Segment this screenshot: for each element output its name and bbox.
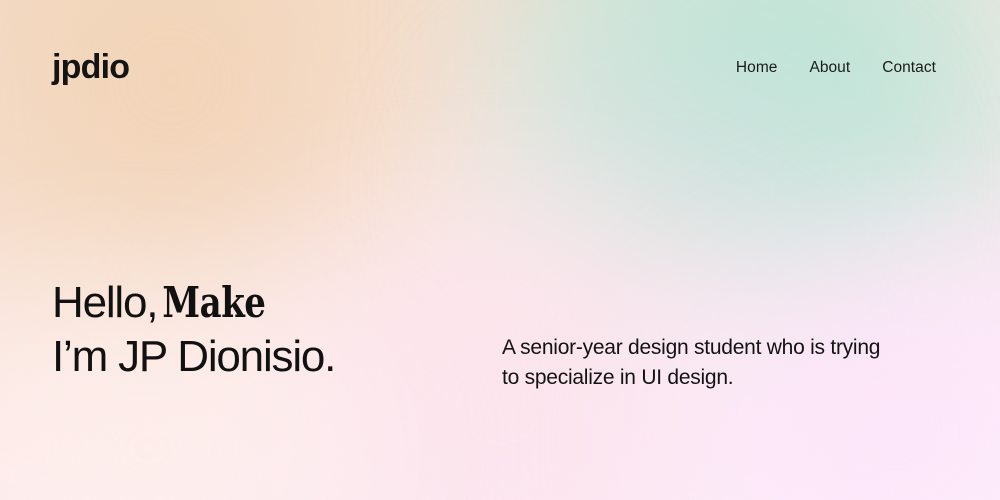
nav-link-contact[interactable]: Contact (882, 60, 936, 76)
headline-line-2: I’m JP Dionisio. (52, 330, 482, 384)
nav-link-home[interactable]: Home (736, 60, 778, 76)
site-header: jpdio Home About Contact (0, 0, 1000, 133)
headline-line-1: Hello,Make (52, 276, 482, 330)
hero-paragraph: A senior-year design student who is tryi… (502, 333, 902, 393)
nav-link-about[interactable]: About (809, 60, 850, 76)
site-logo[interactable]: jpdio (52, 50, 129, 84)
headline-display-word: Make (157, 276, 265, 330)
main-navigation: Home About Contact (736, 60, 936, 76)
headline-greeting: Hello, (52, 278, 157, 327)
page-root: jpdio Home About Contact Hello,Make I’m … (0, 0, 1000, 500)
hero-headline: Hello,Make I’m JP Dionisio. (52, 276, 482, 384)
page-content: jpdio Home About Contact Hello,Make I’m … (0, 0, 1000, 500)
